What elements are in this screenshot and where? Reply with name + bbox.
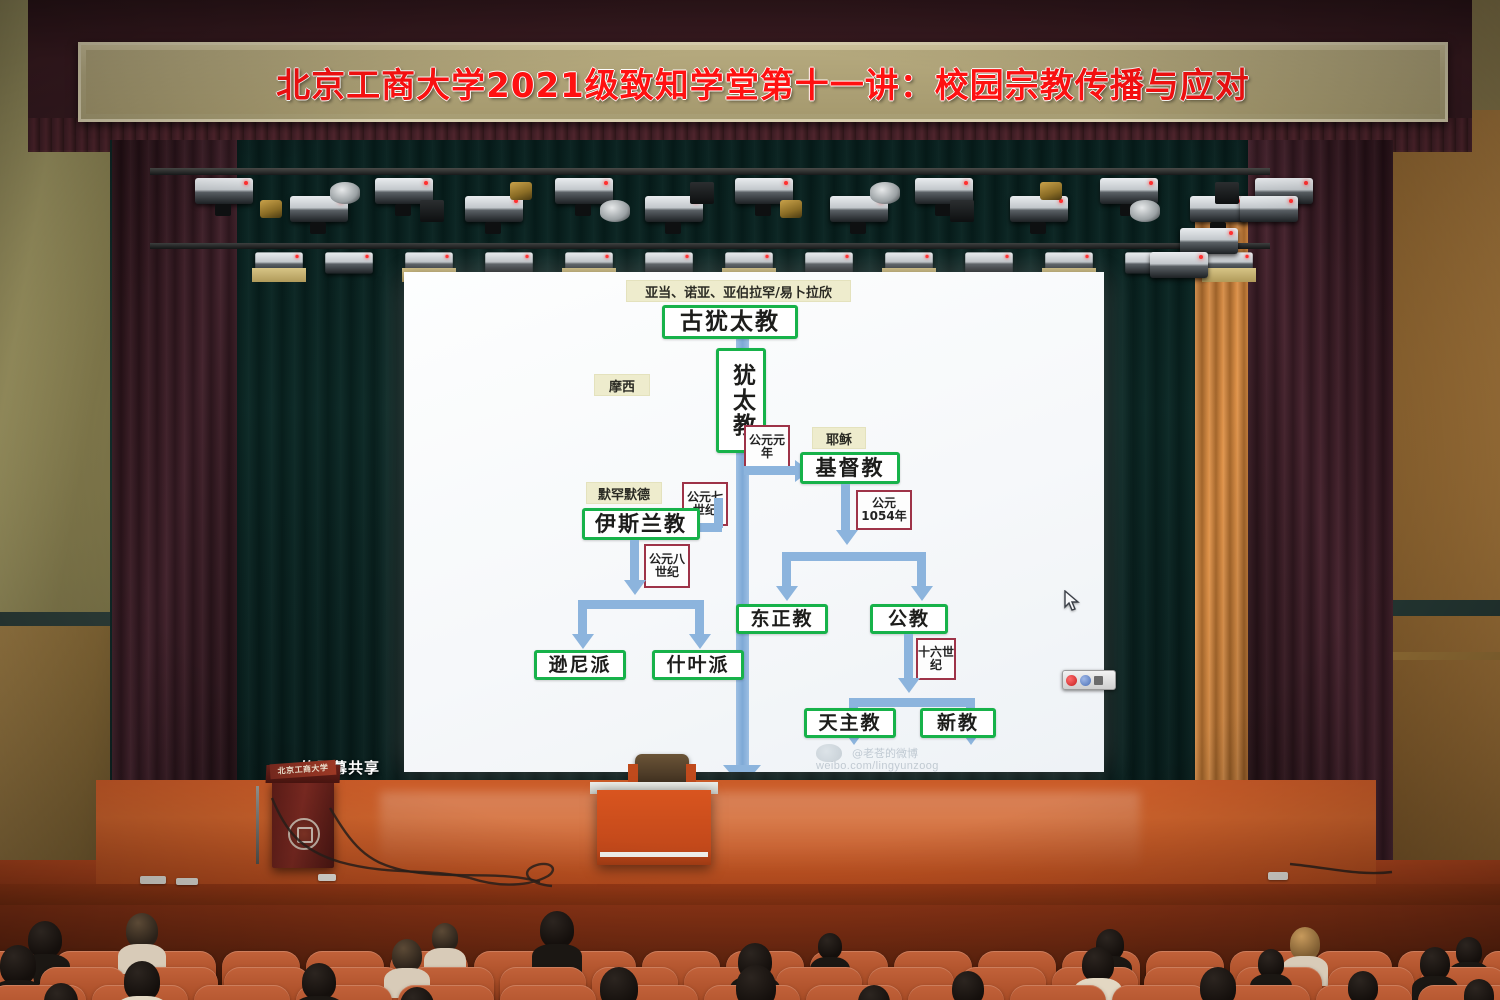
stage-light-yoke (755, 204, 771, 216)
stage-light-fixture-side (1240, 196, 1298, 222)
audience-member-head (1348, 971, 1378, 1000)
stage-light-accessory (690, 182, 714, 204)
stage-light-yoke (485, 222, 501, 234)
audience-member-head (392, 939, 422, 972)
node-ancient-judaism-label: 古犹太教 (680, 311, 780, 334)
audience-member-head (1258, 949, 1284, 978)
edge-catholicism-trunk-arrowhead (898, 678, 920, 693)
founder-tag-moses: 摩西 (594, 374, 650, 396)
audience-seat (194, 985, 290, 1000)
edge-christianity-trunk-arrowhead (836, 530, 858, 545)
stage-light-yoke (215, 204, 231, 216)
lectern-nameplate-text: 北京工商大学 (277, 762, 329, 777)
node-protestant-label: 新教 (937, 714, 979, 733)
date-tag-year-1054-label: 公元1054年 (858, 497, 910, 523)
stage-light-yoke (665, 222, 681, 234)
floor-item-left-2 (176, 878, 198, 885)
stage-light-yoke (395, 204, 411, 216)
audience-member-head (28, 921, 62, 958)
stage-chair-arm-right (686, 764, 696, 784)
audience-member-head (432, 923, 458, 952)
date-tag-eighth-century-label: 公元八世纪 (646, 553, 688, 579)
stage-chair-arm-left (628, 764, 638, 784)
slide-canvas: 亚当、诺亚、亚伯拉罕/易卜拉欣 古犹太教 摩西 犹太教 公元元年 (404, 272, 1104, 772)
lighting-truss-upper (150, 168, 1270, 175)
node-catholicism-general: 公教 (870, 604, 948, 634)
node-christianity-label: 基督教 (816, 458, 885, 479)
audience-member-head (126, 913, 158, 948)
audience-seat (500, 985, 596, 1000)
edge-to-sunni-arrowhead (572, 634, 594, 649)
audience-member-head (952, 971, 984, 1000)
date-tag-year-one-label: 公元元年 (746, 434, 788, 460)
stage-light-accessory (1040, 182, 1062, 200)
node-shia-label: 什叶派 (666, 656, 729, 675)
audience-member-head (1456, 937, 1482, 966)
cable-paths (0, 790, 1500, 910)
stage-light-accessory (420, 200, 444, 222)
watermark-handle: @老苍的微博 (852, 745, 918, 761)
edge-judaism-to-christianity (744, 466, 796, 475)
stage-light-accessory (780, 200, 802, 218)
node-shia: 什叶派 (652, 650, 744, 680)
node-islam-label: 伊斯兰教 (595, 514, 687, 535)
stage-light-yoke (575, 204, 591, 216)
audience-member-head (0, 945, 36, 985)
stage-light-accessory (510, 182, 532, 200)
floor-item-left (140, 876, 166, 884)
founder-tag-muhammad: 默罕默德 (586, 482, 662, 504)
event-banner: 北京工商大学2021级致知学堂第十一讲：校园宗教传播与应对 (78, 42, 1448, 122)
auditorium-photo: 北京工商大学2021级致知学堂第十一讲：校园宗教传播与应对 亚当、诺亚、亚伯拉罕… (0, 0, 1500, 1000)
node-protestant: 新教 (920, 708, 996, 738)
edge-to-shia-arrowhead (689, 634, 711, 649)
edge-islam-split-bar (578, 600, 704, 609)
founder-tag-moses-label: 摩西 (609, 376, 635, 395)
founder-tag-jesus-label: 耶稣 (826, 429, 852, 448)
audience-member-head (818, 933, 842, 959)
stage-light-fixture-lower (645, 252, 693, 273)
more-options-icon[interactable] (1094, 676, 1103, 685)
rig-tray (1202, 268, 1256, 282)
founder-tag-patriarchs-label: 亚当、诺亚、亚伯拉罕/易卜拉欣 (645, 282, 832, 301)
node-ancient-judaism: 古犹太教 (662, 305, 798, 339)
stage-light-accessory (260, 200, 282, 218)
edge-to-catholicism-general-arrowhead (911, 586, 933, 601)
record-icon[interactable] (1066, 675, 1077, 686)
node-orthodoxy: 东正教 (736, 604, 828, 634)
watermark-url: weibo.com/lingyunzoog (816, 760, 939, 772)
stage-light-accessory (950, 200, 974, 222)
node-christianity: 基督教 (800, 452, 900, 484)
edge-christianity-split-bar (782, 552, 926, 561)
stage-light-accessory (870, 182, 900, 204)
stage-light-yoke (310, 222, 326, 234)
date-tag-sixteenth-century-label: 十六世纪 (918, 646, 954, 672)
founder-tag-patriarchs: 亚当、诺亚、亚伯拉罕/易卜拉欣 (626, 280, 851, 302)
floor-item-right (1268, 872, 1288, 880)
stage-light-fixture (195, 178, 253, 204)
stage-light-fixture-lower (805, 252, 853, 273)
edge-catholicism-split-bar (849, 698, 975, 707)
stage-light-fixture-side (1180, 228, 1238, 254)
stage-light-fixture-lower (325, 252, 373, 273)
stage-light-accessory (330, 182, 360, 204)
projection-screen: 亚当、诺亚、亚伯拉罕/易卜拉欣 古犹太教 摩西 犹太教 公元元年 (404, 272, 1104, 772)
stage-light-yoke (1030, 222, 1046, 234)
audience-seat (1112, 985, 1208, 1000)
stage-chair (635, 754, 689, 784)
stage-light-accessory (600, 200, 630, 222)
node-orthodoxy-label: 东正教 (750, 610, 813, 629)
banner-title-text: 北京工商大学2021级致知学堂第十一讲：校园宗教传播与应对 (276, 58, 1250, 107)
date-tag-year-one: 公元元年 (744, 425, 790, 469)
date-tag-sixteenth-century: 十六世纪 (916, 638, 956, 680)
stage-light-fixture-lower (965, 252, 1013, 273)
judaism-spine-arrowhead (723, 765, 761, 772)
participants-icon[interactable] (1080, 675, 1091, 686)
stage-light-accessory (1215, 182, 1239, 204)
audience-member-head (1290, 927, 1320, 960)
audience-seating (0, 905, 1500, 1000)
edge-catholicism-trunk (904, 634, 913, 684)
node-sunni: 逊尼派 (534, 650, 626, 680)
node-sunni-label: 逊尼派 (548, 656, 611, 675)
stage-light-yoke (850, 222, 866, 234)
edge-christianity-trunk (841, 484, 850, 536)
founder-tag-jesus: 耶稣 (812, 427, 866, 449)
rig-tray (252, 268, 306, 282)
meeting-control-bar[interactable] (1062, 670, 1116, 690)
node-catholicism-general-label: 公教 (888, 610, 930, 629)
node-roman-catholic: 天主教 (804, 708, 896, 738)
edge-to-orthodoxy-arrowhead (776, 586, 798, 601)
audience-member-head (1082, 947, 1114, 982)
node-islam: 伊斯兰教 (582, 508, 700, 540)
stage-light-fixture-side (1150, 252, 1208, 278)
lighting-truss-lower (150, 243, 1270, 249)
audience-member-head (124, 961, 160, 1000)
floor-item-center (318, 874, 336, 881)
stage-light-yoke (935, 204, 951, 216)
date-tag-eighth-century: 公元八世纪 (644, 544, 690, 588)
stage-light-accessory (1130, 200, 1160, 222)
date-tag-year-1054: 公元1054年 (856, 490, 912, 530)
edge-islam-trunk-arrowhead (624, 580, 646, 595)
stage-light-fixture (555, 178, 613, 204)
audience-seat (1010, 985, 1106, 1000)
audience-member-head (540, 911, 574, 948)
audience-member-head (302, 963, 336, 1000)
node-roman-catholic-label: 天主教 (818, 714, 881, 733)
founder-tag-muhammad-label: 默罕默德 (598, 484, 650, 503)
stage-light-fixture-lower (485, 252, 533, 273)
audience-member-head (1200, 967, 1236, 1000)
audience-member-head (1420, 947, 1450, 980)
